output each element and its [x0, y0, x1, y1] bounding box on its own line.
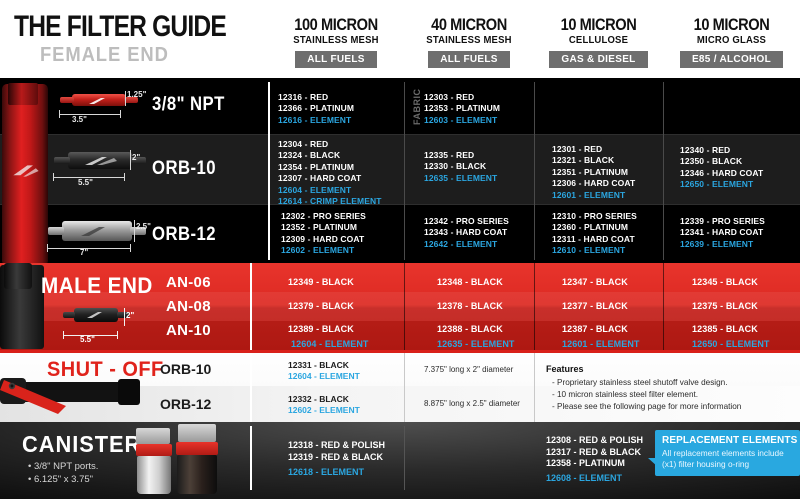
fitting-label-orb10: ORB-10 — [152, 158, 216, 180]
male-part-10glass-an08: 12375 - BLACK — [692, 301, 758, 311]
dimension-line — [59, 114, 121, 115]
column-divider — [250, 426, 252, 490]
dimension-tick — [59, 110, 60, 118]
aeromotive-logo-icon — [86, 311, 108, 319]
column-divider — [250, 353, 252, 422]
male-part-10glass-an06: 12345 - BLACK — [692, 277, 758, 287]
column-divider — [268, 82, 270, 260]
column-divider — [404, 263, 405, 350]
column-divider — [404, 82, 405, 260]
row-divider — [0, 134, 800, 135]
column-divider — [404, 426, 405, 490]
column-divider — [663, 263, 664, 350]
dimension-length-orb12: 7" — [80, 248, 88, 257]
features-list: - Proprietary stainless steel shutoff va… — [552, 377, 741, 413]
dimension-tick — [130, 244, 131, 252]
dimension-length-orb10: 5.5" — [78, 178, 93, 187]
dimension-diameter-38npt: 1.25" — [127, 90, 146, 99]
parts-cell-40-orb12: 12342 - PRO SERIES 12343 - HARD COAT 126… — [424, 216, 509, 250]
column-header-10-micron-cellulose: 10 MICRON CELLULOSE GAS & DIESEL — [534, 16, 663, 68]
male-part-40-an06: 12348 - BLACK — [437, 277, 503, 287]
an-size-label-08: AN-08 — [166, 298, 211, 315]
dimension-line — [125, 91, 126, 106]
dimension-diameter-male: 2" — [126, 311, 134, 320]
replacement-elements-callout: REPLACEMENT ELEMENTS All replacement ele… — [655, 430, 800, 476]
dimension-tick — [63, 331, 64, 339]
aeromotive-logo-icon — [84, 156, 118, 166]
callout-body: All replacement elements include (x1) fi… — [662, 448, 793, 469]
male-part-10cell-an08: 12377 - BLACK — [562, 301, 628, 311]
section-label-canister: CANISTER — [22, 431, 141, 458]
male-part-10cell-an06: 12347 - BLACK — [562, 277, 628, 287]
dimension-tick — [47, 244, 48, 252]
red-bottle-graphic — [2, 84, 48, 263]
shutoff-dims-12: 8.875" long x 2.5" diameter — [424, 399, 520, 408]
product-image-male — [62, 305, 132, 325]
fabric-label: FABRIC — [412, 91, 422, 125]
male-element-100: 12604 - ELEMENT — [291, 339, 369, 349]
column-divider — [534, 82, 535, 260]
male-part-40-an10: 12388 - BLACK — [437, 324, 503, 334]
shutoff-dims-10: 7.375" long x 2" diameter — [424, 365, 513, 374]
dimension-diameter-orb10: 2" — [132, 153, 140, 162]
section-label-shut-off: SHUT - OFF — [47, 358, 164, 382]
callout-title: REPLACEMENT ELEMENTS — [662, 435, 793, 446]
dimension-tick — [124, 173, 125, 181]
dimension-tick — [120, 110, 121, 118]
male-element-10glass: 12650 - ELEMENT — [692, 339, 770, 349]
bottle-cap — [8, 83, 38, 105]
fitting-label-orb12: ORB-12 — [152, 224, 216, 246]
parts-cell-10glass-orb10: 12340 - RED 12350 - BLACK 12346 - HARD C… — [680, 145, 763, 191]
fitting-label-38npt: 3/8" NPT — [152, 94, 225, 116]
fuel-badge: GAS & DIESEL — [549, 51, 647, 68]
parts-cell-100-38npt: 12316 - RED 12366 - PLATINUM 12616 - ELE… — [278, 92, 354, 126]
parts-cell-100-orb10: 12304 - RED 12324 - BLACK 12354 - PLATIN… — [278, 139, 382, 207]
canister-image-black — [168, 424, 226, 494]
male-part-10glass-an10: 12385 - BLACK — [692, 324, 758, 334]
female-end-section: 3.5" 1.25" 3/8" NPT 12316 - RED 12366 - … — [0, 78, 800, 263]
aeromotive-logo-icon — [88, 97, 112, 105]
column-divider — [250, 263, 252, 350]
section-label-male-end: MALE END — [41, 273, 153, 299]
shutoff-parts-12: 12332 - BLACK 12602 - ELEMENT — [288, 394, 360, 416]
male-part-40-an08: 12378 - BLACK — [437, 301, 503, 311]
parts-cell-10cell-orb12: 12310 - PRO SERIES 12360 - PLATINUM 1231… — [552, 211, 637, 257]
canister-parts-10: 12308 - RED & POLISH 12317 - RED & BLACK… — [546, 435, 643, 484]
dimension-diameter-orb12: 2.5" — [136, 222, 151, 231]
male-part-100-an08: 12379 - BLACK — [288, 301, 354, 311]
fuel-badge: ALL FUELS — [428, 51, 510, 68]
page-header: THE FILTER GUIDE FEMALE END 100 MICRON S… — [0, 0, 800, 78]
male-fitting-art-nut — [4, 263, 32, 289]
column-header-100-micron: 100 MICRON STAINLESS MESH ALL FUELS — [268, 16, 404, 68]
aeromotive-logo-icon — [80, 226, 116, 237]
dimension-line — [124, 308, 125, 326]
parts-cell-40-38npt: 12303 - RED 12353 - PLATINUM 12603 - ELE… — [424, 92, 500, 126]
parts-cell-40-orb10: 12335 - RED 12330 - BLACK 12635 - ELEMEN… — [424, 150, 497, 184]
fuel-badge: ALL FUELS — [295, 51, 377, 68]
shutoff-parts-10: 12331 - BLACK 12604 - ELEMENT — [288, 360, 360, 382]
parts-cell-10glass-orb12: 12339 - PRO SERIES 12341 - HARD COAT 126… — [680, 216, 765, 250]
an-size-label-06: AN-06 — [166, 274, 211, 291]
column-header-10-micron-micro-glass: 10 MICRON MICRO GLASS E85 / ALCOHOL — [663, 16, 800, 68]
dimension-length-male: 5.5" — [80, 335, 95, 344]
dimension-line — [134, 220, 135, 242]
male-part-100-an10: 12389 - BLACK — [288, 324, 354, 334]
column-divider — [404, 353, 405, 422]
dimension-line — [47, 248, 131, 249]
filter-guide-page: THE FILTER GUIDE FEMALE END 100 MICRON S… — [0, 0, 800, 499]
dimension-tick — [53, 173, 54, 181]
an-size-label-10: AN-10 — [166, 322, 211, 339]
canister-parts-100: 12318 - RED & POLISH 12319 - RED & BLACK… — [288, 440, 385, 479]
row-shade — [0, 321, 800, 350]
canister-specs: • 3/8" NPT ports. • 6.125" x 3.75" — [28, 460, 98, 486]
shutoff-orb-label-10: ORB-10 — [160, 361, 211, 377]
male-end-section: MALE END 5.5" 2" AN-06 AN-08 AN-10 12349… — [0, 263, 800, 350]
dimension-length-38npt: 3.5" — [72, 115, 87, 124]
male-element-10cell: 12601 - ELEMENT — [562, 339, 640, 349]
column-divider — [534, 263, 535, 350]
column-divider — [534, 353, 535, 422]
aeromotive-logo-icon — [12, 162, 40, 180]
male-part-10cell-an10: 12387 - BLACK — [562, 324, 628, 334]
male-element-40: 12635 - ELEMENT — [437, 339, 515, 349]
column-divider — [663, 82, 664, 260]
fuel-badge: E85 / ALCOHOL — [680, 51, 783, 68]
red-accent-bar — [0, 350, 800, 353]
features-heading: Features — [546, 364, 584, 374]
parts-cell-10cell-orb10: 12301 - RED 12321 - BLACK 12351 - PLATIN… — [552, 144, 635, 201]
male-part-100-an06: 12349 - BLACK — [288, 277, 354, 287]
row-divider — [0, 204, 800, 205]
parts-cell-100-orb12: 12302 - PRO SERIES 12352 - PLATINUM 1230… — [281, 211, 366, 257]
shut-off-section: SHUT - OFF ORB-10 ORB-12 12331 - BLACK 1… — [0, 350, 800, 422]
shutoff-orb-label-12: ORB-12 — [160, 396, 211, 412]
dimension-tick — [117, 331, 118, 339]
column-header-40-micron: 40 MICRON STAINLESS MESH ALL FUELS — [404, 16, 534, 68]
section-label-female-end: FEMALE END — [40, 44, 169, 67]
dimension-line — [130, 150, 131, 170]
page-title: THE FILTER GUIDE — [14, 10, 226, 44]
